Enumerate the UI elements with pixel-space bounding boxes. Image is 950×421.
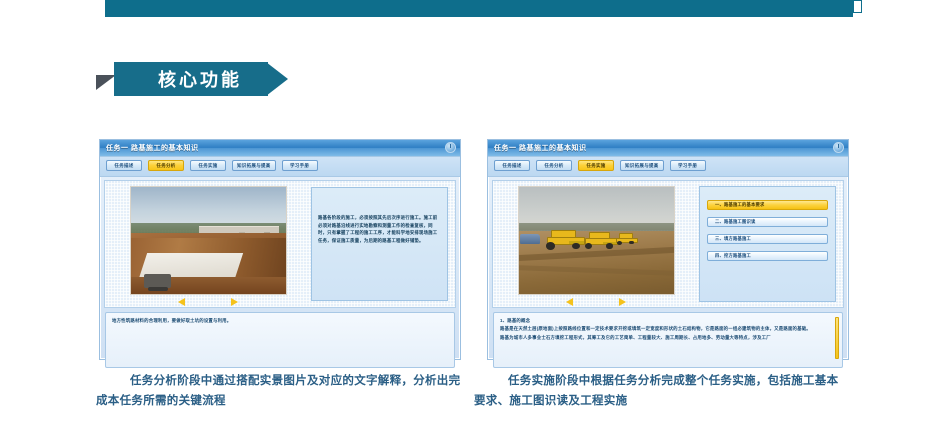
ribbon-arrow-shape [266, 62, 288, 96]
window-title: 任务一 路基施工的基本知识 [494, 143, 586, 153]
photo-nav-row [105, 298, 311, 306]
window-titlebar: 任务一 路基施工的基本知识 [100, 140, 460, 157]
tab-knowledge-extension[interactable]: 知识拓展与提高 [232, 160, 276, 171]
power-icon[interactable] [445, 142, 456, 153]
top-banner [105, 0, 853, 17]
tab-task-implementation[interactable]: 任务实施 [578, 160, 614, 171]
roadbed-photo [130, 186, 287, 295]
top-banner-end-marker [853, 0, 862, 13]
footer-scrollbar[interactable] [835, 317, 839, 359]
topic-button-list: 一、路基施工的基本要求 二、路基施工图识读 三、填方路基施工 四、挖方路基施工 [699, 186, 836, 302]
arrow-right-icon[interactable] [619, 298, 626, 306]
topic-button-basic-requirements[interactable]: 一、路基施工的基本要求 [707, 200, 828, 210]
caption-right: 任务实施阶段中根据任务分析完成整个任务实施，包括施工基本要求、施工图识读及工程实… [474, 372, 846, 411]
arrow-left-icon[interactable] [566, 298, 573, 306]
page-root: 核心功能 任务一 路基施工的基本知识 任务描述 任务分析 任务实施 知识拓展与提… [0, 0, 950, 421]
tab-task-implementation[interactable]: 任务实施 [190, 160, 226, 171]
side-panel-text: 路基各阶段的施工，必须按照其先后次序进行施工。施工前必须对路基沿线进行实地勘察和… [318, 214, 441, 245]
photo-column [105, 181, 311, 307]
window-footer-note: 地方性筑路材料的合理利用，要做好取土坑的设置与利用。 [105, 312, 455, 368]
caption-left: 任务分析阶段中通过搭配实景图片及对应的文字解释，分析出完成本任务所需的关键流程 [96, 372, 468, 411]
photo-nav-row [493, 298, 699, 306]
topic-button-cut-construction[interactable]: 四、挖方路基施工 [707, 251, 828, 261]
footer-note-paragraph-2: 路基为城市人多事业士石方填挖工程形式，其筹工及它的工艺简单、工程量较大、施工周期… [500, 334, 833, 342]
tab-task-analysis[interactable]: 任务分析 [148, 160, 184, 171]
tab-task-analysis[interactable]: 任务分析 [536, 160, 572, 171]
ribbon-body: 核心功能 [114, 62, 268, 96]
page-title: 核心功能 [158, 66, 242, 92]
tab-knowledge-extension[interactable]: 知识拓展与提高 [620, 160, 664, 171]
app-window-task-analysis[interactable]: 任务一 路基施工的基本知识 任务描述 任务分析 任务实施 知识拓展与提高 学习手… [99, 139, 461, 360]
tab-strip: 任务描述 任务分析 任务实施 知识拓展与提高 学习手册 [488, 157, 848, 177]
tab-task-description[interactable]: 任务描述 [106, 160, 142, 171]
tab-strip: 任务描述 任务分析 任务实施 知识拓展与提高 学习手册 [100, 157, 460, 177]
caption-right-text: 任务实施阶段中根据任务分析完成整个任务实施，包括施工基本要求、施工图识读及工程实… [474, 375, 838, 407]
window-footer-note: 1、路基的概念 路基是在天然土层(原地面)上按照路线位置和一定技术要求开挖或填筑… [493, 312, 843, 368]
arrow-right-icon[interactable] [231, 298, 238, 306]
tab-study-manual[interactable]: 学习手册 [670, 160, 706, 171]
ribbon-tail-shape [96, 75, 116, 90]
tab-task-description[interactable]: 任务描述 [494, 160, 530, 171]
caption-left-text: 任务分析阶段中通过搭配实景图片及对应的文字解释，分析出完成本任务所需的关键流程 [96, 375, 460, 407]
construction-machinery-photo [518, 186, 675, 295]
window-body: 路基各阶段的施工，必须按照其先后次序进行施工。施工前必须对路基沿线进行实地勘察和… [104, 180, 456, 308]
window-titlebar: 任务一 路基施工的基本知识 [488, 140, 848, 157]
power-icon[interactable] [833, 142, 844, 153]
footer-note-heading: 1、路基的概念 [500, 317, 833, 325]
footer-note-paragraph-1: 路基是在天然土层(原地面)上按照路线位置和一定技术要求开挖或填筑一定宽度和形状的… [500, 325, 833, 333]
topic-button-fill-construction[interactable]: 三、填方路基施工 [707, 234, 828, 244]
app-window-task-implementation[interactable]: 任务一 路基施工的基本知识 任务描述 任务分析 任务实施 知识拓展与提高 学习手… [487, 139, 849, 360]
arrow-left-icon[interactable] [178, 298, 185, 306]
photo-column [493, 181, 699, 307]
side-text-panel: 路基各阶段的施工，必须按照其先后次序进行施工。施工前必须对路基沿线进行实地勘察和… [311, 187, 448, 301]
tab-study-manual[interactable]: 学习手册 [282, 160, 318, 171]
window-body: 一、路基施工的基本要求 二、路基施工图识读 三、填方路基施工 四、挖方路基施工 [492, 180, 844, 308]
footer-note-text: 地方性筑路材料的合理利用，要做好取土坑的设置与利用。 [112, 317, 445, 325]
topic-button-drawing-reading[interactable]: 二、路基施工图识读 [707, 217, 828, 227]
window-title: 任务一 路基施工的基本知识 [106, 143, 198, 153]
